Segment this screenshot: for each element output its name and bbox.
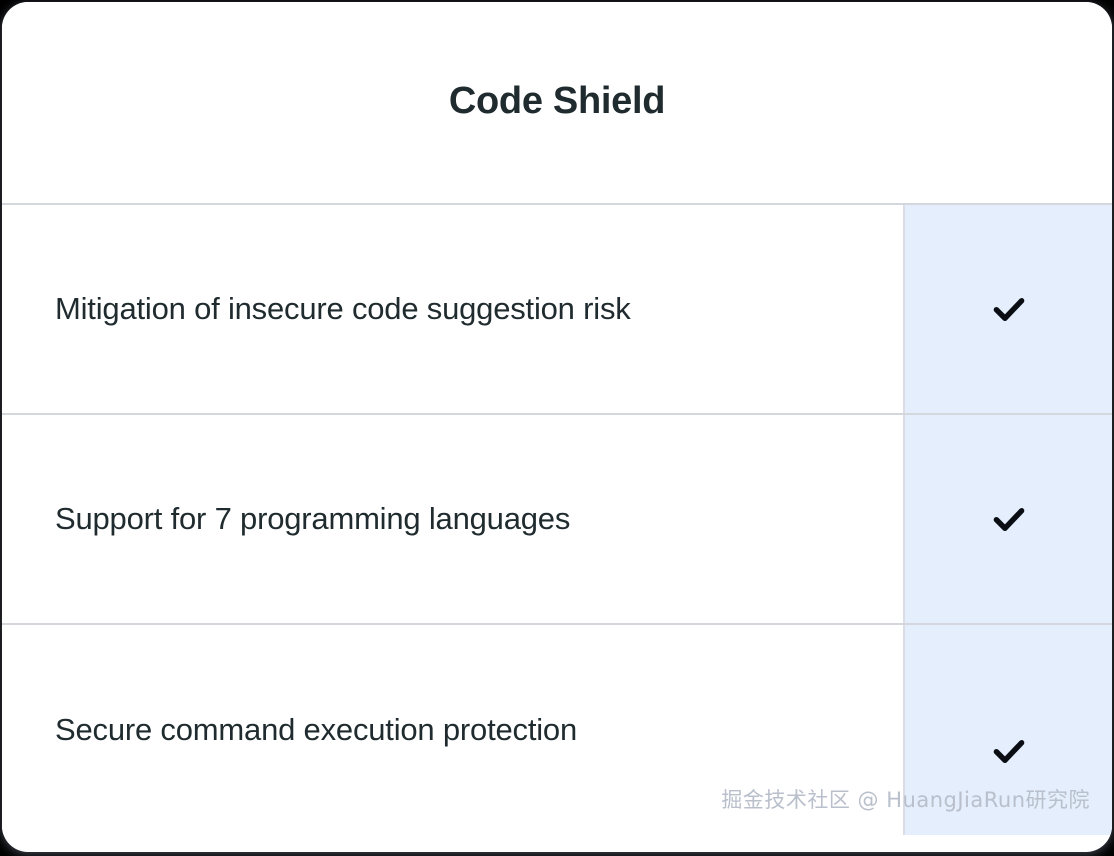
check-icon xyxy=(988,498,1030,540)
table-row: Mitigation of insecure code suggestion r… xyxy=(2,205,1112,415)
table-row: Support for 7 programming languages xyxy=(2,415,1112,625)
table-row: Secure command execution protection xyxy=(2,625,1112,835)
card-header: Code Shield xyxy=(2,2,1112,205)
check-icon xyxy=(988,730,1030,772)
feature-label-cell: Secure command execution protection xyxy=(2,625,905,835)
check-icon xyxy=(988,288,1030,330)
feature-status-cell xyxy=(905,205,1112,413)
feature-label: Mitigation of insecure code suggestion r… xyxy=(55,291,631,327)
page-title: Code Shield xyxy=(449,82,665,123)
feature-card: Code Shield Mitigation of insecure code … xyxy=(2,2,1112,852)
feature-status-cell xyxy=(905,625,1112,835)
feature-table: Mitigation of insecure code suggestion r… xyxy=(2,205,1112,852)
feature-label: Secure command execution protection xyxy=(55,712,577,748)
feature-label-cell: Support for 7 programming languages xyxy=(2,415,905,623)
feature-status-cell xyxy=(905,415,1112,623)
feature-label: Support for 7 programming languages xyxy=(55,501,570,537)
feature-label-cell: Mitigation of insecure code suggestion r… xyxy=(2,205,905,413)
